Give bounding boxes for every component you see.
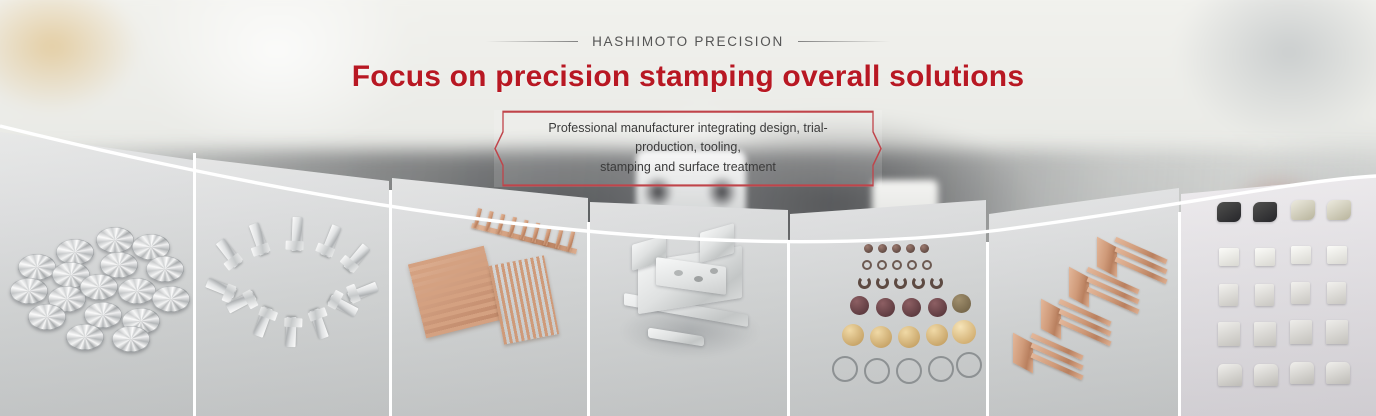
c-clip [912,276,925,289]
perforated-disc [928,298,947,317]
u-channel-clip [1218,322,1240,346]
curved-clamp [1254,364,1278,386]
stamped-clip [1255,248,1275,266]
page-title: Focus on precision stamping overall solu… [0,60,1376,94]
u-channel-clip [1290,320,1312,344]
ring-clamp [956,352,982,378]
product-panel-stamped-clip-grid[interactable] [1181,176,1376,416]
stamped-disc [146,256,184,282]
brand-name: HASHIMOTO PRECISION [592,34,784,49]
diamond-mount-plate [1291,200,1315,220]
bracket-hole [674,270,683,276]
ring-clamp [928,356,954,382]
stamped-disc [112,326,150,352]
eyebrow-rule-right [798,41,890,42]
stamped-disc [10,278,48,304]
stamped-clip [1291,246,1311,264]
stamped-disc [28,304,66,330]
micro-disc [892,244,901,253]
subtitle-line-2: stamping and surface treatment [600,160,776,174]
micro-ring [892,260,902,270]
subtitle-line-1: Professional manufacturer integrating de… [548,121,827,154]
bracket-hole [710,268,718,274]
hero-copy: HASHIMOTO PRECISION Focus on precision s… [0,34,1376,187]
micro-disc [906,244,915,253]
perforated-disc [850,296,869,315]
c-clip [876,276,889,289]
brass-disc [870,326,892,348]
c-clip [894,276,907,289]
stamped-disc [118,278,156,304]
curved-clamp [1290,362,1314,384]
u-channel-clip [1254,322,1276,346]
perforated-disc [876,298,895,317]
eyebrow: HASHIMOTO PRECISION [0,34,1376,49]
stamped-disc [56,239,94,265]
bracket-hole [694,276,703,282]
subtitle-text: Professional manufacturer integrating de… [524,119,852,177]
micro-disc [864,244,873,253]
ring-clamp [896,358,922,384]
brass-disc [926,324,948,346]
stamped-disc [96,227,134,253]
micro-ring [922,260,932,270]
c-clip [930,276,943,289]
brass-disc [842,324,864,346]
copper-spring-bracket [1013,334,1091,378]
stamped-disc [66,324,104,350]
perforated-disc [902,298,921,317]
connector-terminal [291,217,302,251]
curved-clamp [1326,362,1350,384]
subtitle-wrapper: Professional manufacturer integrating de… [0,110,1376,187]
perforated-disc [952,294,971,313]
brass-disc [898,326,920,348]
stamped-clip [1219,248,1239,266]
u-channel-clip [1326,320,1348,344]
brass-disc [952,320,976,344]
stamped-clip [1327,246,1347,264]
slotted-clip [1327,282,1346,304]
subtitle-plate: Professional manufacturer integrating de… [494,110,882,187]
stamped-disc [80,274,118,300]
diamond-mount-plate [1253,202,1277,222]
stamped-disc [152,286,190,312]
micro-ring [862,260,872,270]
micro-disc [920,244,929,253]
micro-disc [878,244,887,253]
ring-clamp [864,358,890,384]
ring-clamp [832,356,858,382]
c-clip [858,276,871,289]
slotted-clip [1291,282,1310,304]
micro-ring [877,260,887,270]
stamped-disc [18,254,56,280]
product-panel-copper-spring-brackets[interactable] [989,164,1179,416]
diamond-mount-plate [1327,200,1351,220]
hero-banner: HASHIMOTO PRECISION Focus on precision s… [0,0,1376,416]
eyebrow-rule-left [486,41,578,42]
diamond-mount-plate [1217,202,1241,222]
slotted-clip [1219,284,1238,306]
curved-clamp [1218,364,1242,386]
micro-ring [907,260,917,270]
product-panel-small-stamped-parts-grid[interactable] [790,148,986,416]
connector-terminal [285,317,296,347]
slotted-clip [1255,284,1274,306]
